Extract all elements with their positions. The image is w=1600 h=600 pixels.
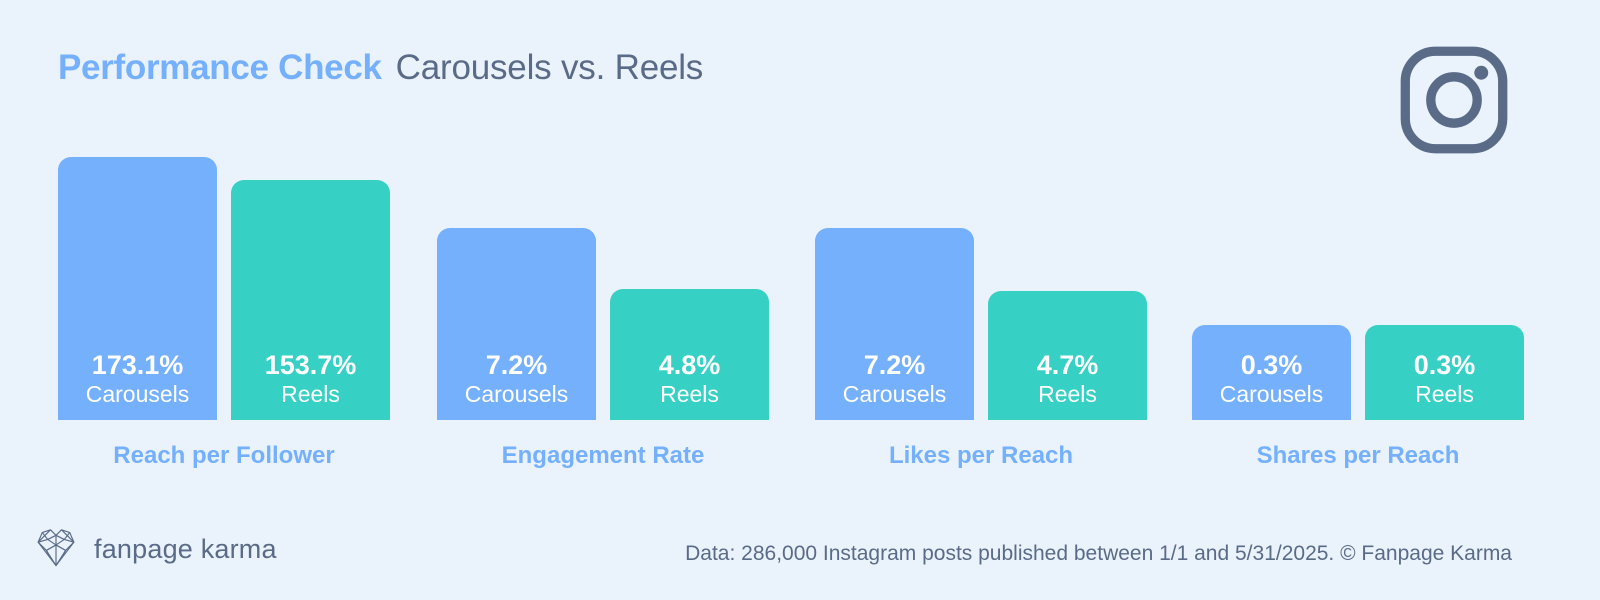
bar-value-label: 153.7% — [265, 352, 357, 379]
bar-carousels[interactable]: 7.2%Carousels — [815, 228, 974, 420]
bar-group-bars: 7.2%Carousels4.7%Reels — [815, 228, 1147, 420]
category-label: Engagement Rate — [437, 442, 769, 470]
bar-group-bars: 7.2%Carousels4.8%Reels — [437, 228, 769, 420]
fanpage-karma-heart-icon — [34, 527, 78, 572]
bar-group: 173.1%Carousels153.7%ReelsReach per Foll… — [58, 0, 390, 600]
bar-carousels[interactable]: 0.3%Carousels — [1192, 325, 1351, 420]
bar-value-label: 4.8% — [659, 352, 721, 379]
bar-group: 7.2%Carousels4.7%ReelsLikes per Reach — [815, 0, 1147, 600]
bar-series-label: Reels — [1415, 383, 1474, 406]
bar-chart: 173.1%Carousels153.7%ReelsReach per Foll… — [0, 0, 1600, 600]
bar-value-label: 173.1% — [92, 352, 184, 379]
bar-series-label: Carousels — [843, 383, 947, 406]
brand-logo: fanpage karma — [34, 527, 277, 572]
bar-series-label: Reels — [281, 383, 340, 406]
bar-series-label: Carousels — [465, 383, 569, 406]
bar-series-label: Reels — [660, 383, 719, 406]
category-label: Likes per Reach — [815, 442, 1147, 470]
bar-value-label: 7.2% — [864, 352, 926, 379]
bar-reels[interactable]: 4.8%Reels — [610, 289, 769, 420]
bar-reels[interactable]: 0.3%Reels — [1365, 325, 1524, 420]
bar-carousels[interactable]: 7.2%Carousels — [437, 228, 596, 420]
bar-reels[interactable]: 153.7%Reels — [231, 180, 390, 420]
bar-group-bars: 0.3%Carousels0.3%Reels — [1192, 325, 1524, 420]
brand-name: fanpage karma — [94, 534, 277, 565]
category-label: Shares per Reach — [1192, 442, 1524, 470]
bar-carousels[interactable]: 173.1%Carousels — [58, 157, 217, 420]
bar-group-bars: 173.1%Carousels153.7%Reels — [58, 157, 390, 420]
data-source-note: Data: 286,000 Instagram posts published … — [685, 542, 1512, 566]
bar-group: 7.2%Carousels4.8%ReelsEngagement Rate — [437, 0, 769, 600]
bar-group: 0.3%Carousels0.3%ReelsShares per Reach — [1192, 0, 1524, 600]
bar-value-label: 0.3% — [1414, 352, 1476, 379]
bar-series-label: Carousels — [86, 383, 190, 406]
category-label: Reach per Follower — [58, 442, 390, 470]
bar-series-label: Reels — [1038, 383, 1097, 406]
bar-value-label: 4.7% — [1037, 352, 1099, 379]
bar-reels[interactable]: 4.7%Reels — [988, 291, 1147, 420]
bar-series-label: Carousels — [1220, 383, 1324, 406]
bar-value-label: 0.3% — [1241, 352, 1303, 379]
bar-value-label: 7.2% — [486, 352, 548, 379]
